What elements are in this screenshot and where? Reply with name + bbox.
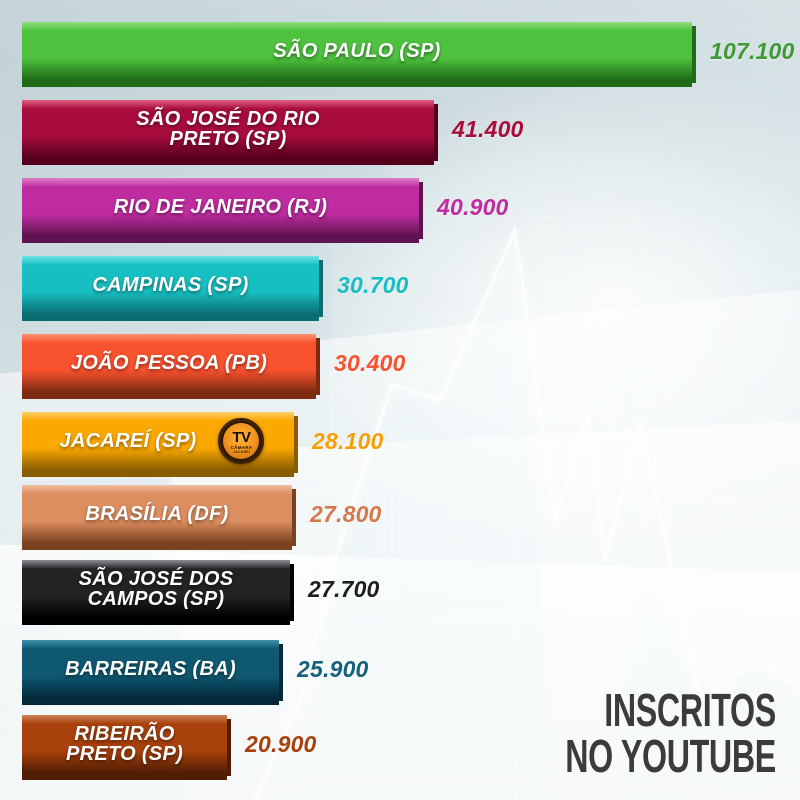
- bar-highlight: [22, 640, 279, 649]
- bar-6: BRASÍLIA (DF): [22, 485, 292, 543]
- bar-shadow: [22, 158, 434, 165]
- bar-label: CAMPINAS (SP): [78, 275, 262, 295]
- bar-value-label: 28.100: [312, 428, 384, 455]
- bar-side-shadow: [292, 489, 296, 546]
- triangle-up-icon: ▲: [527, 216, 532, 221]
- bar-row: CAMPINAS (SP)30.700: [0, 256, 409, 314]
- bar-shadow: [22, 543, 292, 550]
- bar-side-shadow: [692, 26, 696, 83]
- bar-shadow: [22, 80, 692, 87]
- bar-row: BARREIRAS (BA)25.900: [0, 640, 369, 698]
- bar-value-label: 107.100: [710, 38, 795, 65]
- bar-shadow: [22, 236, 419, 243]
- bar-highlight: [22, 178, 419, 187]
- bar-row: JACAREÍ (SP)TVCÂMARAJACAREÍ28.100: [0, 412, 384, 470]
- bar-1: SÃO JOSÉ DO RIO PRETO (SP): [22, 100, 434, 158]
- footer-title-line1: INSCRITOS: [565, 688, 776, 732]
- bar-side-shadow: [279, 644, 283, 701]
- bar-label: BRASÍLIA (DF): [71, 504, 242, 524]
- bar-value-label: 40.900: [437, 194, 509, 221]
- logo-main-text: TV: [232, 430, 250, 445]
- bar-value-label: 41.400: [452, 116, 524, 143]
- chart-annotation: ▲+ 6.798.223: [608, 345, 646, 351]
- bar-row: SÃO JOSÉ DOS CAMPOS (SP)27.700: [0, 560, 380, 618]
- bar-shadow: [22, 773, 227, 780]
- bar-value-label: 25.900: [297, 656, 369, 683]
- bar-side-shadow: [316, 338, 320, 395]
- footer-title: INSCRITOS NO YOUTUBE: [565, 688, 776, 778]
- bar-highlight: [22, 412, 294, 421]
- bar-row: SÃO PAULO (SP)107.100: [0, 22, 795, 80]
- bar-2: RIO DE JANEIRO (RJ): [22, 178, 419, 236]
- bar-value-label: 30.400: [334, 350, 406, 377]
- bar-label: RIO DE JANEIRO (RJ): [100, 197, 342, 217]
- bar-value-label: 20.900: [245, 731, 317, 758]
- bar-row: RIBEIRÃO PRETO (SP)20.900: [0, 715, 317, 773]
- bar-label: BARREIRAS (BA): [51, 659, 250, 679]
- bar-row: RIO DE JANEIRO (RJ)40.900: [0, 178, 509, 236]
- chart-annotation: ▲+ 9.863.289: [527, 216, 565, 222]
- bar-side-shadow: [419, 182, 423, 239]
- triangle-up-icon: ▲: [608, 345, 613, 350]
- bar-3: CAMPINAS (SP): [22, 256, 319, 314]
- bar-highlight: [22, 334, 316, 343]
- bar-row: SÃO JOSÉ DO RIO PRETO (SP)41.400: [0, 100, 524, 158]
- bar-row: JOÃO PESSOA (PB)30.400: [0, 334, 406, 392]
- bar-label: RIBEIRÃO PRETO (SP): [52, 724, 197, 765]
- bar-value-label: 27.700: [308, 576, 380, 603]
- bar-8: BARREIRAS (BA): [22, 640, 279, 698]
- bar-value-label: 27.800: [310, 501, 382, 528]
- footer-title-line2: NO YOUTUBE: [565, 734, 776, 778]
- logo-sub-text-2: JACAREÍ: [233, 451, 250, 455]
- bar-5: JACAREÍ (SP)TVCÂMARAJACAREÍ: [22, 412, 294, 470]
- bar-shadow: [22, 698, 279, 705]
- bar-9: RIBEIRÃO PRETO (SP): [22, 715, 227, 773]
- bar-7: SÃO JOSÉ DOS CAMPOS (SP): [22, 560, 290, 618]
- bar-label: SÃO PAULO (SP): [259, 41, 454, 61]
- bar-label: JOÃO PESSOA (PB): [57, 353, 281, 373]
- bar-row: BRASÍLIA (DF)27.800: [0, 485, 382, 543]
- bar-shadow: [22, 470, 294, 477]
- bar-label: SÃO JOSÉ DOS CAMPOS (SP): [65, 569, 248, 610]
- infographic-canvas: ▲+ 9.863.289 ▲+ 5.989.834 ▲+ 6.798.223 S…: [0, 0, 800, 800]
- bar-shadow: [22, 618, 290, 625]
- bar-label: JACAREÍ (SP): [46, 431, 211, 451]
- bar-side-shadow: [434, 104, 438, 161]
- bar-shadow: [22, 314, 319, 321]
- bar-highlight: [22, 256, 319, 265]
- bar-highlight: [22, 485, 292, 494]
- bar-0: SÃO PAULO (SP): [22, 22, 692, 80]
- bar-side-shadow: [294, 416, 298, 473]
- bar-value-label: 30.700: [337, 272, 409, 299]
- bar-shadow: [22, 392, 316, 399]
- bar-side-shadow: [227, 719, 231, 776]
- bar-side-shadow: [290, 564, 294, 621]
- bar-label: SÃO JOSÉ DO RIO PRETO (SP): [122, 109, 333, 150]
- bar-highlight: [22, 22, 692, 31]
- bar-4: JOÃO PESSOA (PB): [22, 334, 316, 392]
- bar-side-shadow: [319, 260, 323, 317]
